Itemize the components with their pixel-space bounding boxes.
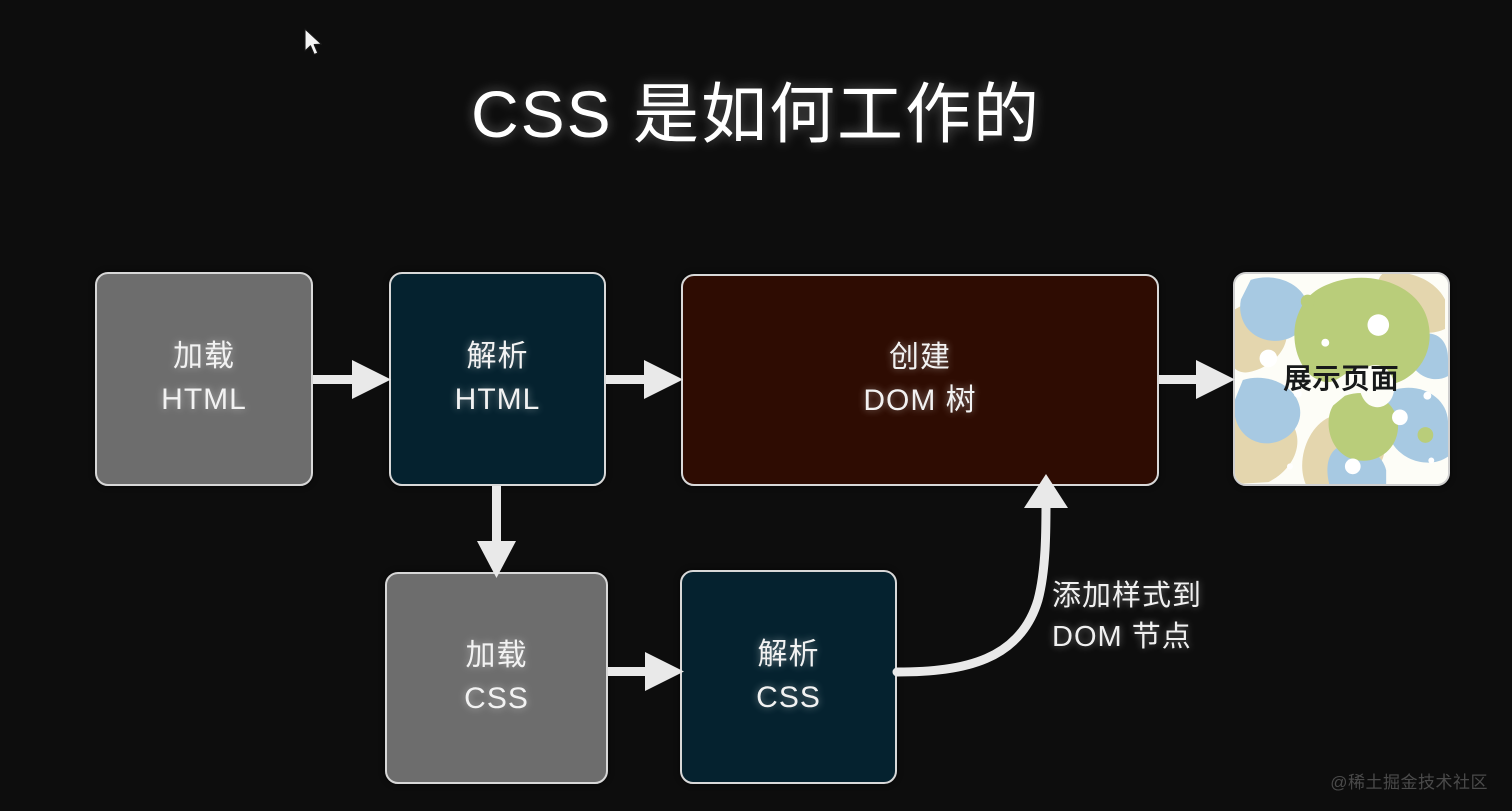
flow-node-parse-css[interactable]: 解析 CSS [680, 570, 897, 784]
flow-node-parse-html[interactable]: 解析 HTML [389, 272, 606, 486]
slide-canvas: CSS 是如何工作的 加载 HTML 解析 HTML 创建 DOM 树 [0, 0, 1512, 811]
flow-node-label: 加载 CSS [464, 635, 529, 720]
flow-node-label: 展示页面 [1283, 359, 1399, 399]
arrow-create-dom-to-display [1159, 360, 1235, 399]
arrow-parse-css-to-create-dom [897, 474, 1068, 672]
arrow-load-css-to-parse-css [608, 652, 684, 691]
flow-node-label: 创建 DOM 树 [863, 337, 976, 422]
flow-node-label: 解析 HTML [455, 336, 541, 421]
flow-node-load-css[interactable]: 加载 CSS [385, 572, 608, 784]
mouse-cursor-icon [303, 28, 325, 58]
flow-node-load-html[interactable]: 加载 HTML [95, 272, 313, 486]
arrow-parse-html-to-create-dom [606, 360, 683, 399]
arrow-load-html-to-parse-html [313, 360, 391, 399]
arrow-parse-html-to-load-css [477, 486, 516, 578]
flow-node-create-dom-tree[interactable]: 创建 DOM 树 [681, 274, 1159, 486]
flow-node-label: 解析 CSS [756, 634, 821, 719]
flow-node-label: 加载 HTML [161, 336, 247, 421]
watermark: @稀土掘金技术社区 [1330, 768, 1488, 793]
flow-node-display-page[interactable]: 展示页面 [1233, 272, 1450, 486]
edge-label-add-style-to-dom: 添加样式到 DOM 节点 [1052, 576, 1202, 658]
page-title: CSS 是如何工作的 [0, 78, 1512, 151]
